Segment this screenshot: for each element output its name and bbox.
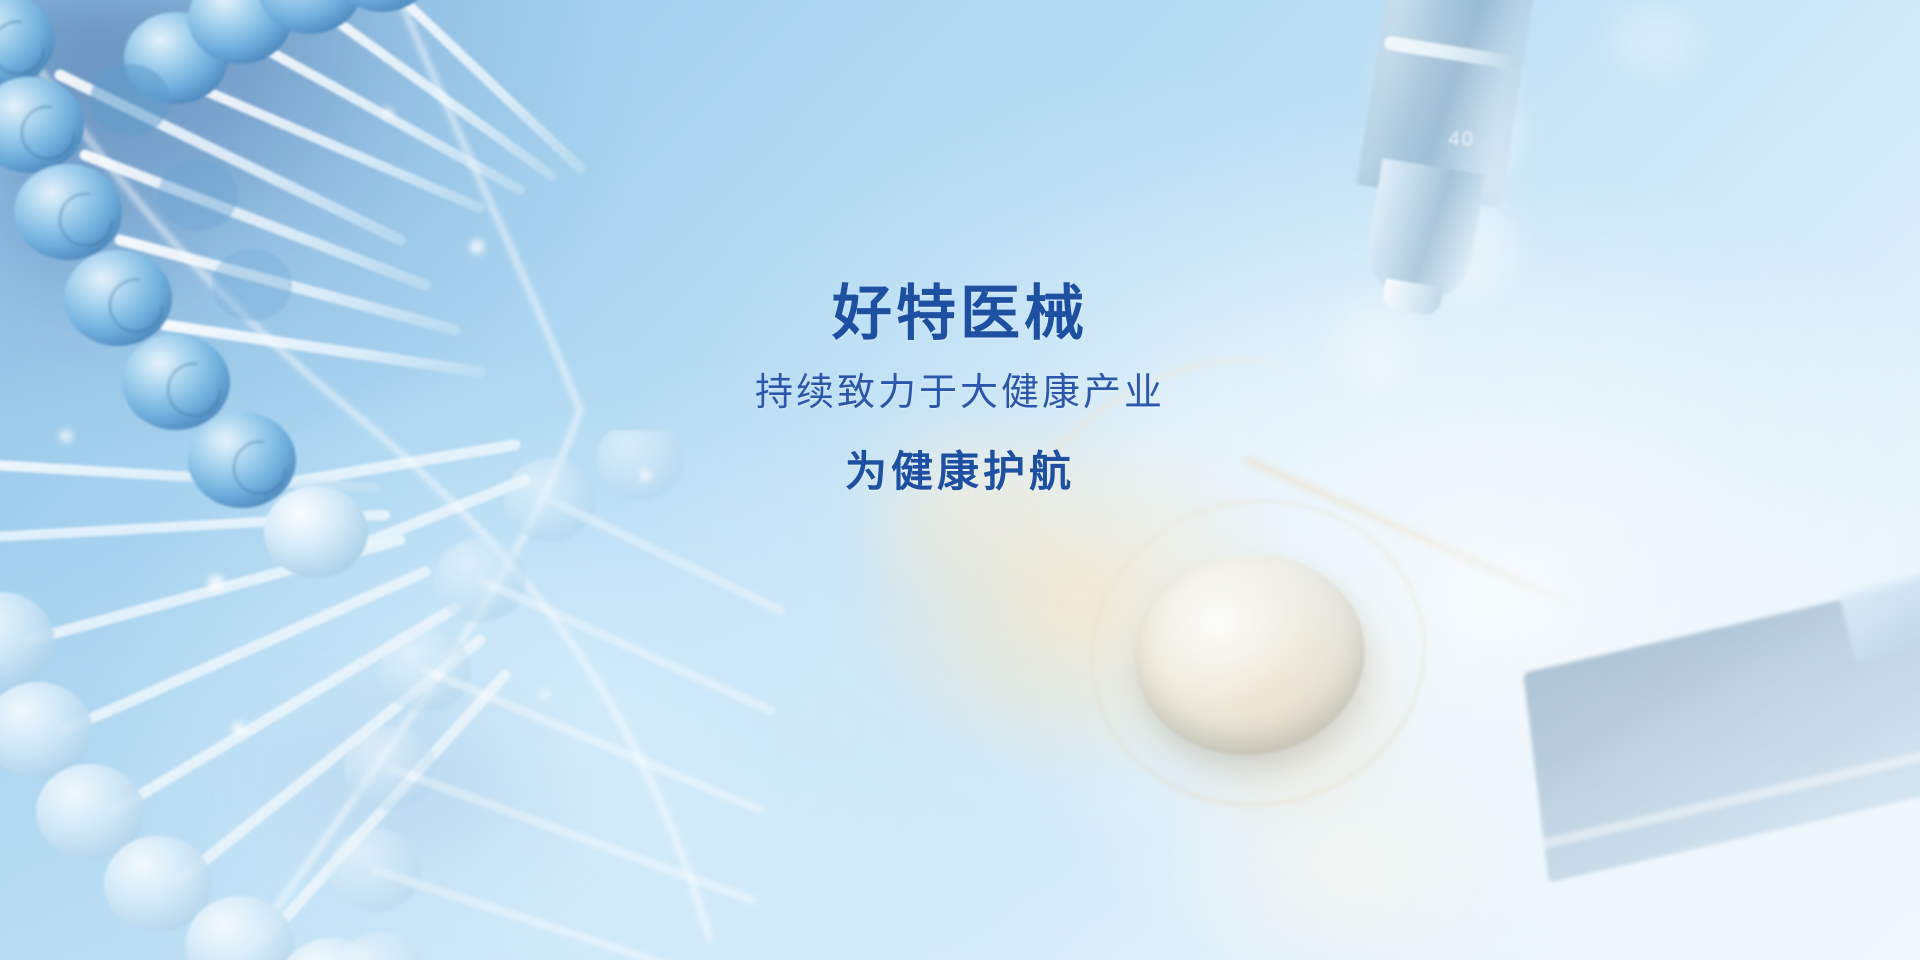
hero-tagline: 为健康护航 — [0, 449, 1920, 495]
hero-text-block: 好特医械 持续致力于大健康产业 为健康护航 — [0, 282, 1920, 495]
hero-subtitle: 持续致力于大健康产业 — [0, 373, 1920, 415]
objective-magnification-label: 40 — [1448, 128, 1475, 151]
page-title: 好特医械 — [0, 282, 1920, 347]
hero-banner: 40 好特医械 持续致力于大健康产业 为健康护航 — [0, 0, 1920, 960]
dna-helix-secondary-icon — [80, 430, 800, 960]
microscope-stage-clip — [1839, 558, 1920, 662]
stage-edge — [1543, 733, 1920, 849]
